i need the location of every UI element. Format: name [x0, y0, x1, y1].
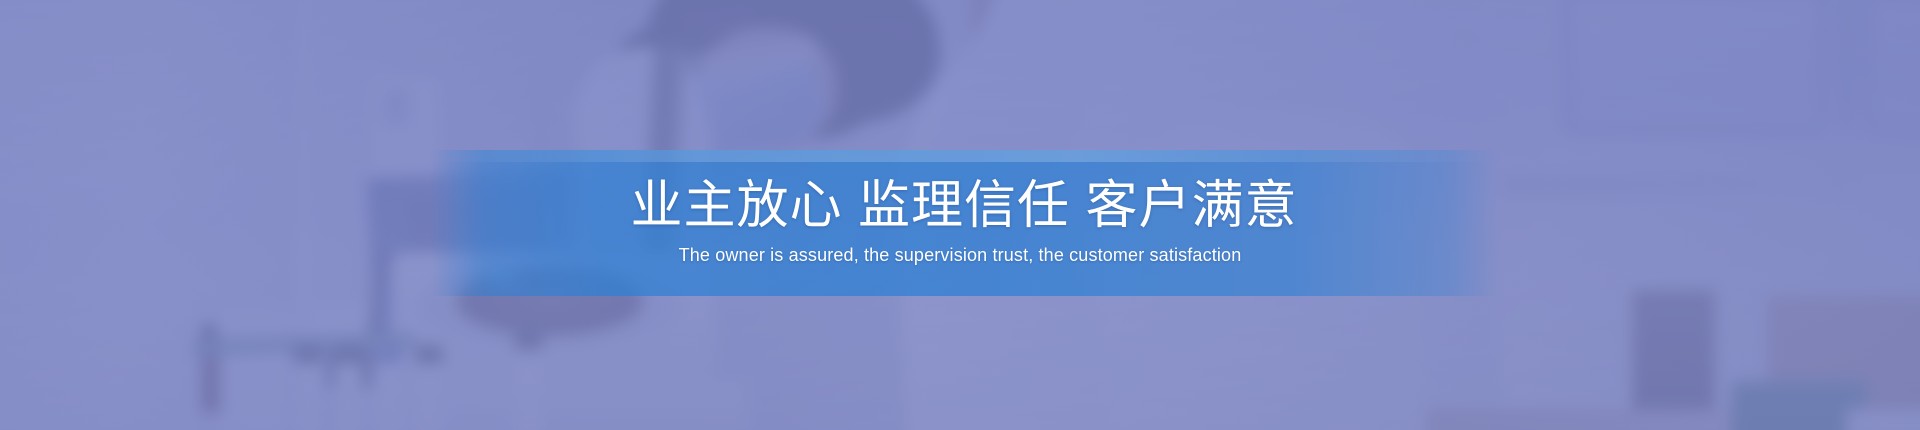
banner-headline: 业主放心 监理信任 客户满意	[623, 179, 1298, 234]
hero-banner: 业主放心 监理信任 客户满意 The owner is assured, the…	[0, 0, 1920, 430]
banner-subtitle: The owner is assured, the supervision tr…	[679, 245, 1242, 267]
banner-text-block: 业主放心 监理信任 客户满意 The owner is assured, the…	[0, 150, 1920, 296]
